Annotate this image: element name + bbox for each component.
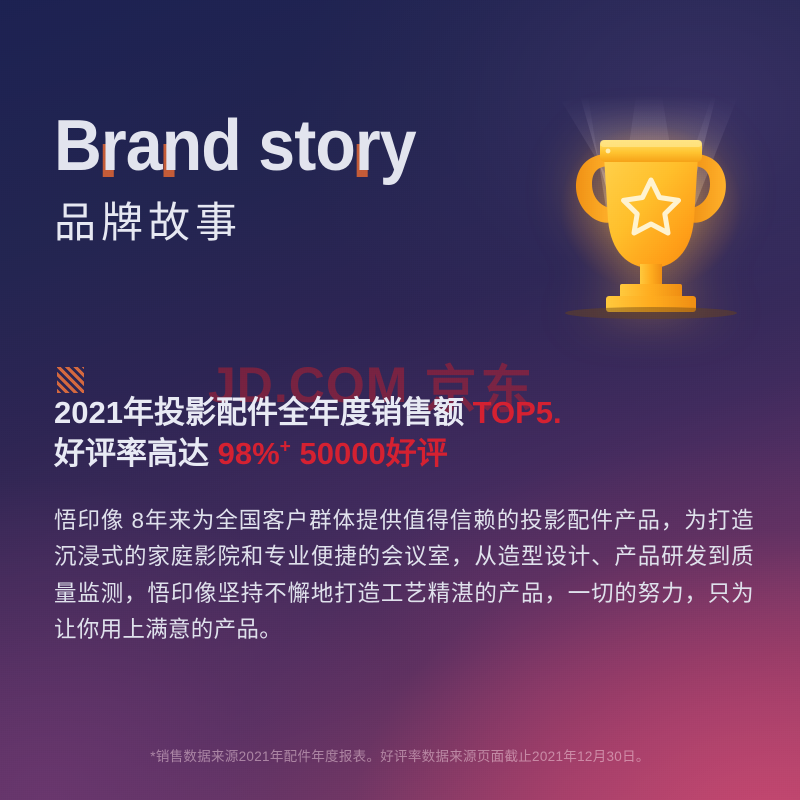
brand-story-poster: JD.COM 京东 Brand story 品牌故事: [0, 0, 800, 800]
headline-block: Brand story 品牌故事: [54, 112, 474, 250]
stat-review-count: 50000好评: [300, 436, 448, 471]
stat-sales-rank: TOP5.: [473, 395, 562, 430]
brand-description-paragraph: 悟印像 8年来为全国客户群体提供值得信赖的投影配件产品，为打造沉浸式的家庭影院和…: [54, 503, 754, 649]
footer-disclaimer: *销售数据来源2021年配件年度报表。好评率数据来源页面截止2021年12月30…: [0, 745, 800, 765]
trophy-cup-icon: [558, 104, 744, 320]
stat-line-sales: 2021年投影配件全年度销售额 TOP5.: [54, 392, 694, 433]
stat-line-rating: 好评率高达 98%+ 50000好评: [54, 433, 694, 474]
stat-rating-percent: 98%: [218, 436, 280, 471]
stat-rating-prefix: 好评率高达: [54, 436, 209, 471]
stat-rating-sup: +: [280, 437, 291, 458]
hatched-square-marker: [57, 367, 84, 393]
page-title-cn: 品牌故事: [54, 189, 474, 250]
trophy-illustration: [540, 96, 760, 326]
stat-sales-text: 2021年投影配件全年度销售额: [54, 395, 464, 430]
stats-block: 2021年投影配件全年度销售额 TOP5. 好评率高达 98%+ 50000好评: [54, 392, 694, 474]
stat-rating-value: 98%+: [218, 436, 291, 471]
page-title-en: Brand story: [54, 112, 440, 181]
